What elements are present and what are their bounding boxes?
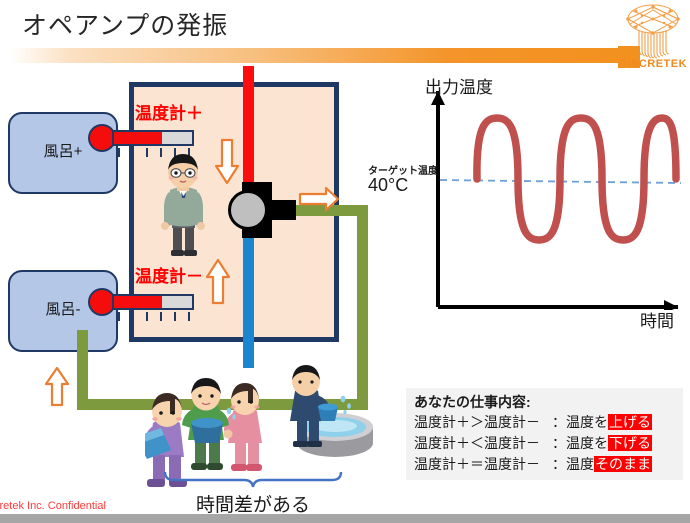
delay-brace (162, 472, 344, 488)
legend-row: 温度計＋＝温度計－：温度そのまま (414, 454, 652, 474)
arrow-up-icon (205, 257, 231, 310)
worker-person-illustration (152, 152, 214, 260)
footer-bar (0, 514, 690, 523)
arrow-right-icon (298, 185, 340, 218)
delay-caption: 時間差がある (162, 490, 344, 517)
legend-title: あなたの仕事内容: (414, 392, 531, 412)
logo-wordmark: DISCRETEK (619, 58, 690, 70)
arrow-down-icon (214, 138, 240, 191)
legend-row: 温度計＋＞温度計－：温度を上げる (414, 412, 652, 432)
legend-action: そのまま (594, 456, 652, 472)
thermometer-plus-tube (112, 130, 194, 146)
legend-separator: ：温度を (552, 412, 608, 432)
oscillation-graph: 出力温度 時間 ターゲット温度 40°C (400, 75, 685, 340)
arrow-up-return-icon (44, 365, 70, 412)
legend-condition: 温度計＋＞温度計－ (414, 412, 552, 432)
legend-row: 温度計＋＜温度計－：温度を下げる (414, 433, 652, 453)
confidential-footer: cretek Inc. Confidential (0, 500, 106, 512)
legend-separator: ：温度を (552, 433, 608, 453)
thermometer-minus (88, 283, 200, 323)
legend-condition: 温度計＋＜温度計－ (414, 433, 552, 453)
thermometer-minus-label: 温度計－ (135, 262, 203, 287)
legend-condition: 温度計＋＝温度計－ (414, 454, 552, 474)
slide-canvas: オペアンプの発振 (0, 0, 690, 523)
legend-action: 下げる (608, 435, 652, 451)
valve-knob[interactable] (228, 190, 268, 230)
thermometer-plus-fill (114, 132, 162, 144)
legend-separator: ：温度 (552, 454, 594, 474)
graph-plot (400, 75, 685, 310)
return-pipe-vertical-left (77, 330, 88, 410)
cold-water-pipe (243, 228, 254, 368)
page-title: オペアンプの発振 (22, 6, 228, 42)
return-pipe-bottom-left (77, 399, 147, 410)
accent-bar (10, 48, 620, 63)
thermometer-plus-label: 温度計＋ (135, 99, 203, 124)
legend-action: 上げる (608, 414, 652, 430)
graph-x-axis-label: 時間 (640, 307, 674, 332)
thermometer-minus-fill (114, 296, 162, 308)
graph-target-value: 40°C (368, 175, 408, 196)
task-legend-box: あなたの仕事内容: 温度計＋＞温度計－：温度を上げる 温度計＋＜温度計－：温度を… (406, 388, 683, 480)
thermometer-minus-tube (112, 294, 194, 310)
hot-water-pipe (243, 66, 254, 191)
graph-y-axis-label: 出力温度 (425, 73, 493, 98)
thermometer-minus-ticks (118, 312, 190, 321)
